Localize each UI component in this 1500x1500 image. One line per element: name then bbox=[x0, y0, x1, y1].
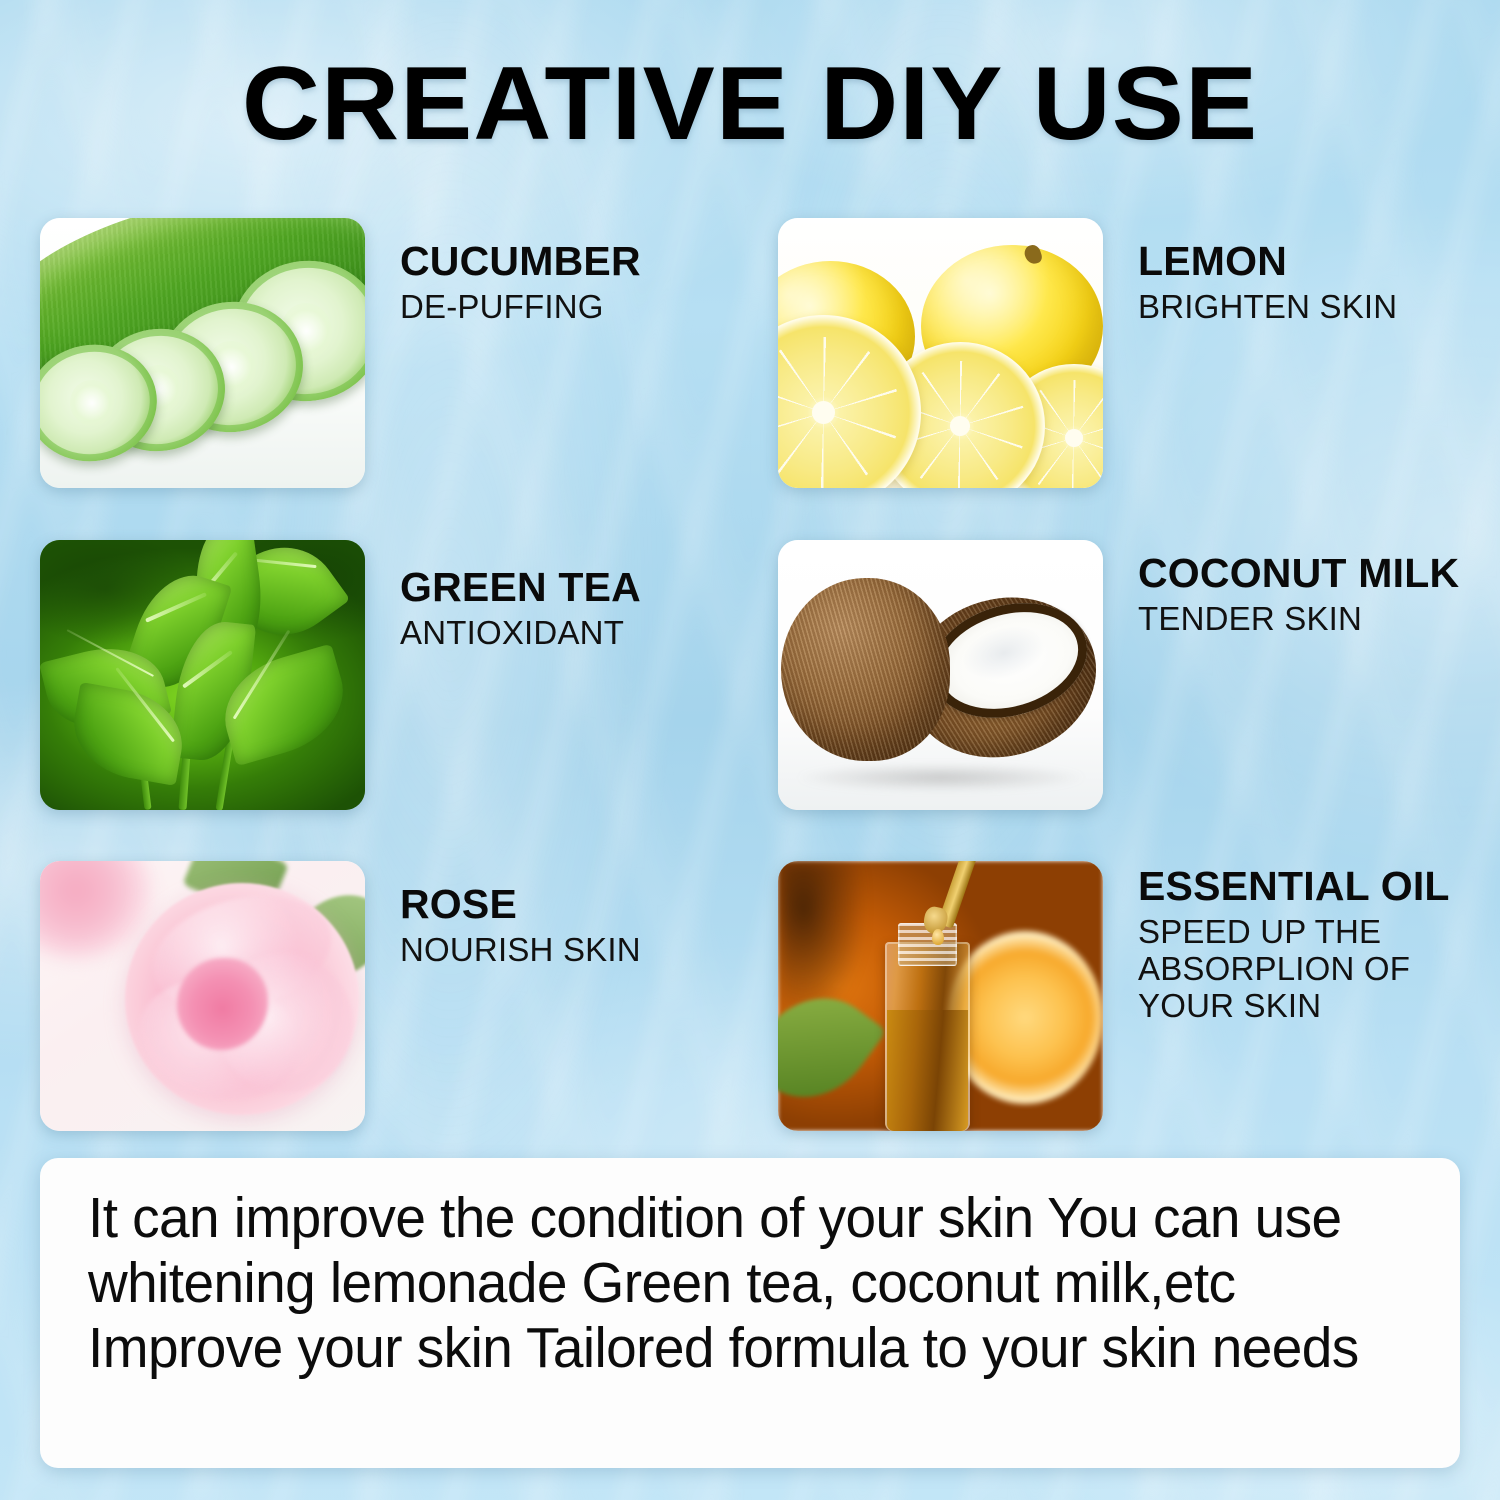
coconut-photo bbox=[778, 540, 1103, 810]
feature-desc: ANTIOXIDANT bbox=[400, 615, 770, 652]
caption-text: It can improve the condition of your ski… bbox=[88, 1186, 1370, 1381]
essential-oil-photo bbox=[778, 861, 1103, 1131]
cucumber-photo bbox=[40, 218, 365, 488]
feature-desc: SPEED UP THE ABSORPLION OF YOUR SKIN bbox=[1138, 914, 1468, 1025]
feature-name: COCONUT MILK bbox=[1138, 552, 1468, 596]
lemon-text: LEMON BRIGHTEN SKIN bbox=[1138, 240, 1468, 326]
caption-card: It can improve the condition of your ski… bbox=[40, 1158, 1460, 1468]
feature-grid: CUCUMBER DE-PUFFING LEMON BRIGHTEN SK bbox=[40, 218, 1460, 1148]
feature-desc: NOURISH SKIN bbox=[400, 932, 770, 969]
green-tea-photo bbox=[40, 540, 365, 810]
infographic-page: CREATIVE DIY USE CUCUMBER DE-PUFFING bbox=[0, 0, 1500, 1500]
feature-name: ROSE bbox=[400, 883, 770, 927]
feature-desc: BRIGHTEN SKIN bbox=[1138, 289, 1468, 326]
feature-name: ESSENTIAL OIL bbox=[1138, 865, 1468, 909]
feature-name: LEMON bbox=[1138, 240, 1468, 284]
green-tea-text: GREEN TEA ANTIOXIDANT bbox=[400, 566, 770, 652]
feature-name: GREEN TEA bbox=[400, 566, 770, 610]
feature-name: CUCUMBER bbox=[400, 240, 770, 284]
feature-desc: TENDER SKIN bbox=[1138, 601, 1468, 638]
essential-oil-text: ESSENTIAL OIL SPEED UP THE ABSORPLION OF… bbox=[1138, 865, 1468, 1025]
feature-desc: DE-PUFFING bbox=[400, 289, 770, 326]
coconut-milk-text: COCONUT MILK TENDER SKIN bbox=[1138, 552, 1468, 638]
rose-text: ROSE NOURISH SKIN bbox=[400, 883, 770, 969]
page-title: CREATIVE DIY USE bbox=[0, 52, 1500, 156]
rose-photo bbox=[40, 861, 365, 1131]
cucumber-text: CUCUMBER DE-PUFFING bbox=[400, 240, 770, 326]
lemon-photo bbox=[778, 218, 1103, 488]
